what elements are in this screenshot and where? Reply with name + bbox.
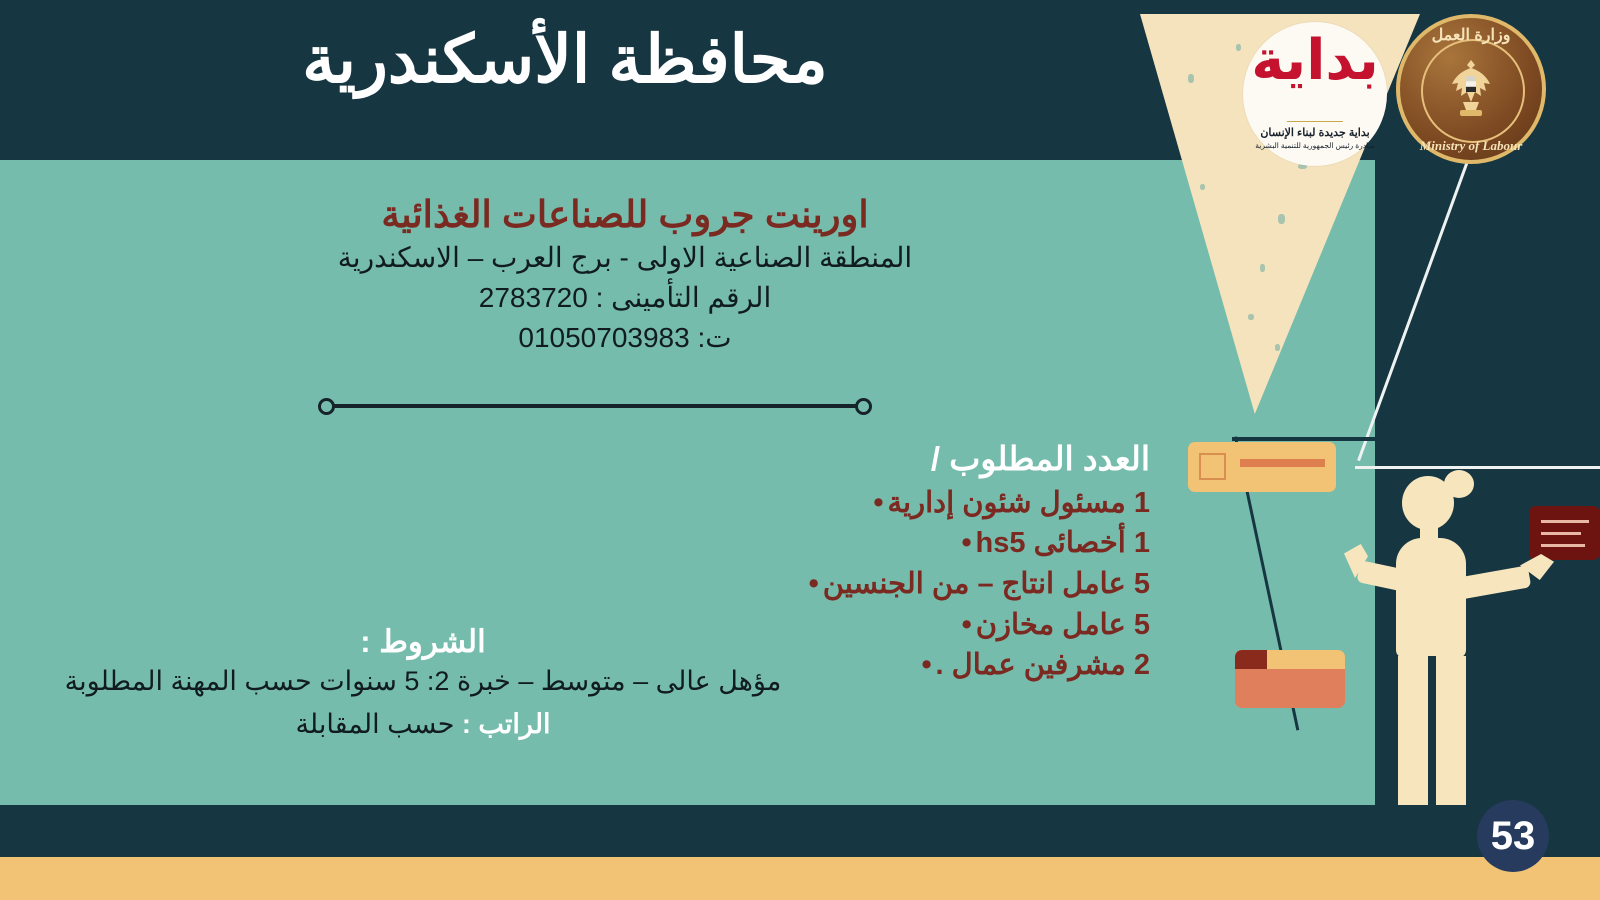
bullet-icon: • — [958, 605, 976, 646]
card-square-outline — [1199, 453, 1226, 480]
seal-arabic-text: وزارة العمل — [1400, 25, 1542, 45]
bullet-icon: • — [870, 483, 888, 524]
conditions-block: الشروط : مؤهل عالى – متوسط – خبرة 2: 5 س… — [38, 622, 808, 744]
bedaya-wordmark: بداية — [1243, 34, 1387, 87]
company-address: المنطقة الصناعية الاولى - برج العرب – ال… — [120, 238, 1130, 278]
salary-line: الراتب : حسب المقابلة — [38, 705, 808, 744]
bedaya-tagline: بداية جديدة لبناء الإنسان — [1243, 126, 1387, 139]
footer-band — [0, 805, 1600, 857]
vacancy-label: 5 عامل مخازن — [976, 609, 1150, 641]
floating-card-orange — [1235, 650, 1345, 708]
seal-english-text: Ministry of Labour — [1400, 138, 1542, 154]
section-divider — [318, 398, 872, 414]
salary-label: الراتب : — [462, 709, 551, 739]
company-info-block: اورينت جروب للصناعات الغذائية المنطقة ال… — [120, 192, 1130, 358]
card-grit-texture — [1235, 650, 1267, 669]
conditions-heading: الشروط : — [38, 622, 808, 662]
vacancies-heading: العدد المطلوب / — [530, 438, 1150, 481]
bedaya-divider — [1287, 121, 1343, 122]
vacancy-label: 1 أخصائى hs5 — [976, 527, 1150, 559]
salary-value: حسب المقابلة — [295, 709, 454, 739]
divider-dot-start — [318, 398, 335, 415]
page-number-badge: 53 — [1477, 800, 1549, 872]
company-phone: ت: 01050703983 — [120, 318, 1130, 358]
bottom-accent-strip — [0, 857, 1600, 900]
list-item: 1 مسئول شئون إدارية• — [530, 483, 1150, 524]
floating-card-gold — [1188, 442, 1336, 492]
bullet-icon: • — [918, 645, 936, 686]
bullet-icon: • — [958, 523, 976, 564]
list-item: 1 أخصائى hs5• — [530, 523, 1150, 564]
conditions-text: مؤهل عالى – متوسط – خبرة 2: 5 سنوات حسب … — [38, 662, 808, 700]
divider-bar — [324, 404, 866, 408]
divider-dot-end — [855, 398, 872, 415]
navy-horizontal-line-decoration — [1232, 437, 1377, 441]
ministry-of-labour-seal: وزارة العمل Ministry of Labour — [1396, 14, 1546, 164]
page-title: محافظة الأسكندرية — [0, 22, 1130, 98]
vacancy-label: 2 مشرفين عمال . — [936, 649, 1150, 681]
bedaya-initiative-logo: بداية بداية جديدة لبناء الإنسان مبادرة ر… — [1243, 22, 1387, 166]
slide-canvas: محافظة الأسكندرية بداية بداية جديدة لبنا… — [0, 0, 1600, 900]
card-accent-bar — [1240, 459, 1325, 467]
company-name: اورينت جروب للصناعات الغذائية — [120, 192, 1130, 238]
bedaya-subtagline: مبادرة رئيس الجمهورية للتنمية البشرية — [1243, 141, 1387, 150]
list-item: 5 عامل انتاج – من الجنسين• — [530, 564, 1150, 605]
eagle-of-saladin-icon — [1446, 58, 1496, 120]
bullet-icon: • — [805, 564, 823, 605]
company-insurance-number: الرقم التأمينى : 2783720 — [120, 278, 1130, 318]
vacancy-label: 1 مسئول شئون إدارية — [888, 487, 1151, 519]
vacancy-label: 5 عامل انتاج – من الجنسين — [823, 568, 1150, 600]
person-head — [1402, 476, 1454, 530]
diagonal-line-decoration-2 — [1355, 466, 1600, 469]
